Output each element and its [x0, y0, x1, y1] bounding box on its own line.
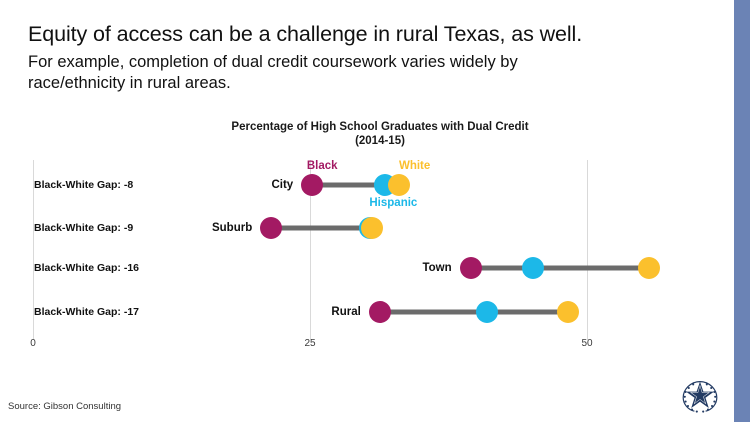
- slide-canvas: Equity of access can be a challenge in r…: [0, 0, 750, 422]
- data-point-white-town[interactable]: [638, 257, 660, 279]
- x-axis-tick-label: 0: [30, 338, 36, 349]
- connector-line: [471, 266, 649, 271]
- data-point-hispanic-town[interactable]: [522, 257, 544, 279]
- texas-star-seal-logo: [678, 376, 722, 416]
- connector-line: [380, 310, 568, 315]
- chart-plot-area: 02550Black-White Gap: -8CityBlack-White …: [0, 0, 750, 422]
- data-point-white-rural[interactable]: [557, 301, 579, 323]
- data-point-black-rural[interactable]: [369, 301, 391, 323]
- category-label-town: Town: [422, 262, 451, 274]
- gap-annotation-town: Black-White Gap: -16: [34, 262, 139, 274]
- series-callout-hispanic: Hispanic: [369, 197, 417, 209]
- series-callout-black: Black: [307, 160, 338, 172]
- x-axis-tick-label: 25: [304, 338, 315, 349]
- data-point-black-town[interactable]: [460, 257, 482, 279]
- data-point-white-suburb[interactable]: [361, 217, 383, 239]
- source-note: Source: Gibson Consulting: [8, 401, 121, 412]
- category-label-suburb: Suburb: [212, 222, 252, 234]
- data-point-black-city[interactable]: [301, 174, 323, 196]
- gap-annotation-suburb: Black-White Gap: -9: [34, 222, 133, 234]
- data-point-hispanic-rural[interactable]: [476, 301, 498, 323]
- connector-line: [271, 226, 372, 231]
- category-label-rural: Rural: [331, 306, 360, 318]
- gap-annotation-city: Black-White Gap: -8: [34, 179, 133, 191]
- data-point-white-city[interactable]: [388, 174, 410, 196]
- x-axis-tick-label: 50: [581, 338, 592, 349]
- series-callout-white: White: [399, 160, 430, 172]
- data-point-black-suburb[interactable]: [260, 217, 282, 239]
- category-label-city: City: [271, 179, 293, 191]
- gap-annotation-rural: Black-White Gap: -17: [34, 306, 139, 318]
- gridline-50: [587, 160, 588, 340]
